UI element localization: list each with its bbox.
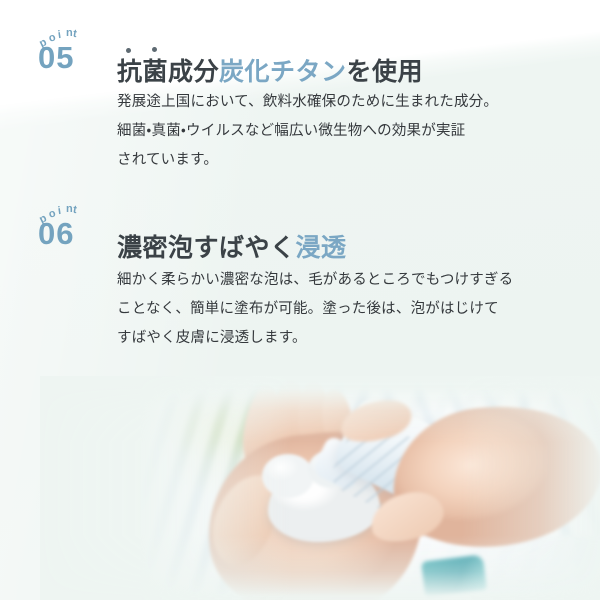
- point-06-title-plain-before: 濃密泡すばやく: [117, 234, 296, 262]
- point-05-badge: p o i n t 05: [38, 26, 104, 78]
- point-block-06: p o i n t 06 濃密泡すばやく浸透 細かく柔らかい濃密な泡は、毛がある…: [0, 202, 600, 254]
- point-05-title-plain-before: 抗菌成分: [117, 58, 219, 86]
- point-05-title-highlight: 炭化チタン: [219, 58, 347, 86]
- point-06-badge: p o i n t 06: [38, 202, 104, 254]
- point-06-number: 06: [38, 218, 104, 249]
- point-05-body-line: されています。: [117, 146, 498, 175]
- point-label-letter: t: [72, 205, 77, 216]
- point-05-header: p o i n t 05 抗菌成分炭化チタンを使用: [0, 26, 600, 78]
- point-05-body-line: 発展途上国において、飲料水確保のために生まれた成分。: [117, 88, 498, 117]
- point-06-body-line: ことなく、簡単に塗布が可能。塗った後は、泡がはじけて: [117, 295, 513, 324]
- product-point-page: p o i n t 05 抗菌成分炭化チタンを使用 発展途上国において、飲料水確…: [0, 0, 600, 600]
- point-06-body-line: 細かく柔らかい濃密な泡は、毛があるところでもつけすぎる: [117, 266, 513, 295]
- point-06-body-line: すばやく皮膚に浸透します。: [117, 324, 513, 353]
- point-05-body-line: 細菌・真菌・ウイルスなど幅広い微生物への効果が実証: [117, 117, 498, 146]
- point-05-number: 05: [38, 42, 104, 73]
- point-06-title-highlight: 浸透: [296, 234, 347, 262]
- photo-soft-focus: [40, 376, 600, 600]
- point-06-body: 細かく柔らかい濃密な泡は、毛があるところでもつけすぎる ことなく、簡単に塗布が可…: [117, 266, 513, 353]
- point-06-title: 濃密泡すばやく浸透: [117, 233, 347, 263]
- point-06-header: p o i n t 06 濃密泡すばやく浸透: [0, 202, 600, 254]
- point-05-title: 抗菌成分炭化チタンを使用: [117, 57, 423, 87]
- product-usage-photo: [40, 376, 600, 600]
- point-block-05: p o i n t 05 抗菌成分炭化チタンを使用 発展途上国において、飲料水確…: [0, 26, 600, 78]
- emphasis-dots-icon: [117, 46, 423, 56]
- point-05-title-plain-after: を使用: [347, 58, 424, 86]
- point-05-body: 発展途上国において、飲料水確保のために生まれた成分。 細菌・真菌・ウイルスなど幅…: [117, 88, 498, 175]
- point-label-letter: t: [72, 29, 77, 40]
